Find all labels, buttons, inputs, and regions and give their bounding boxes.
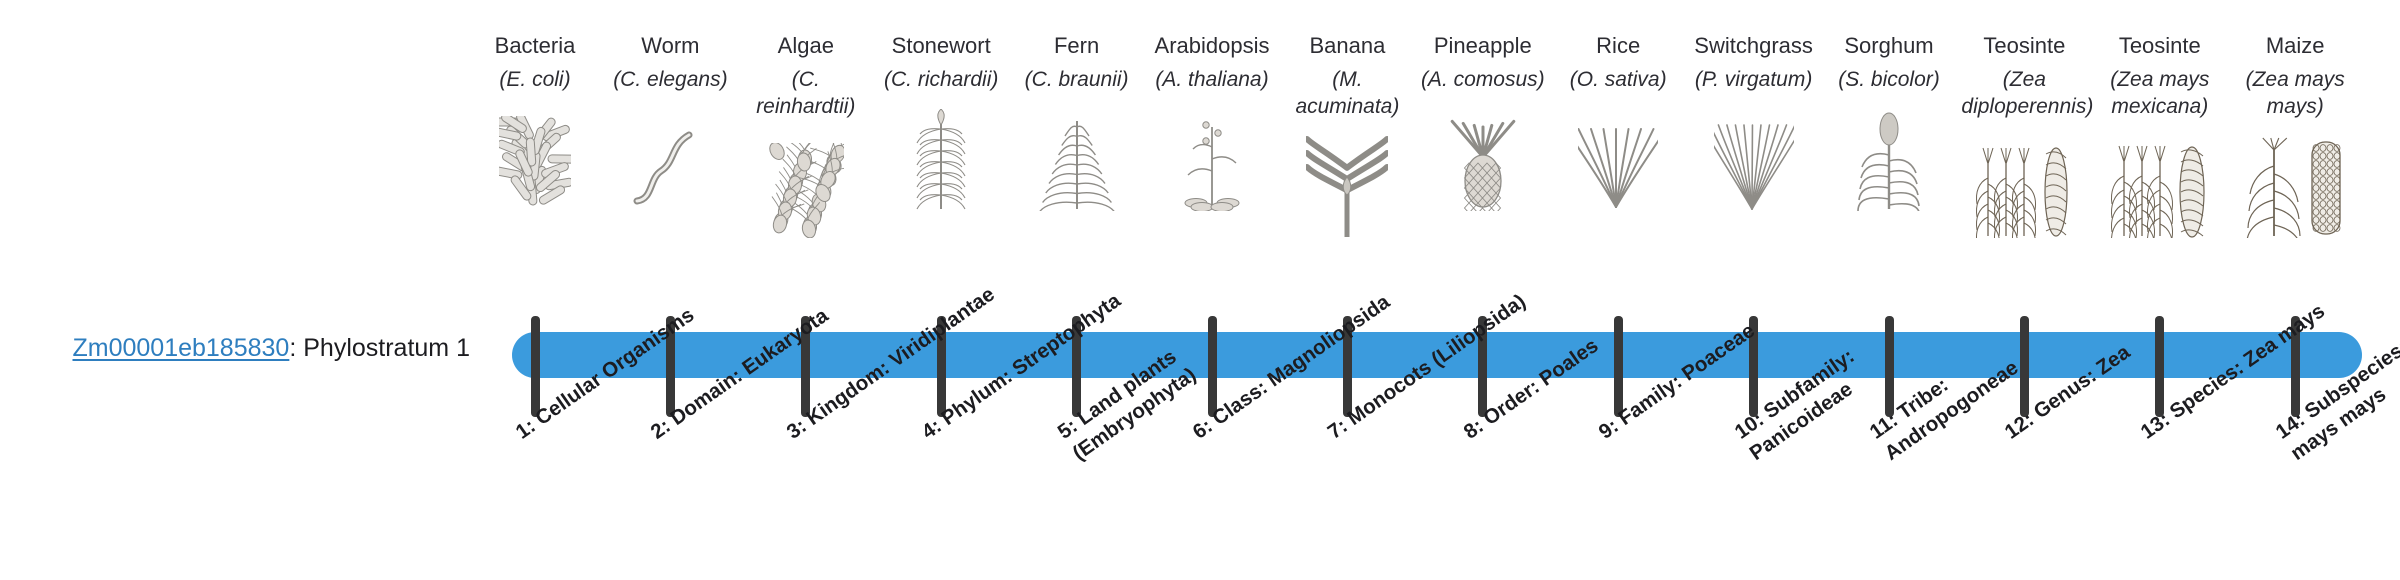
species-scientific-name: (A. thaliana) (1149, 66, 1275, 93)
fern-frond-icon (1014, 101, 1140, 211)
species-scientific-name: (C. braunii) (1014, 66, 1140, 93)
species-common-name: Pineapple (1420, 32, 1546, 60)
species-common-name: Maize (2232, 32, 2358, 60)
species-column-switchgrass-9: Switchgrass(P. virgatum) (1691, 32, 1817, 211)
species-common-name: Algae (743, 32, 869, 60)
species-column-rice-8: Rice(O. sativa) (1555, 32, 1681, 211)
switchgrass-plant-icon (1691, 101, 1817, 211)
species-column-banana-6: Banana(M. acuminata) (1284, 32, 1410, 238)
species-common-name: Arabidopsis (1149, 32, 1275, 60)
teosinte-plant-ear-icon (1961, 128, 2087, 238)
species-scientific-name: (M. acuminata) (1284, 66, 1410, 120)
species-common-name: Rice (1555, 32, 1681, 60)
species-scientific-name: (S. bicolor) (1826, 66, 1952, 93)
species-column-bacteria-0: Bacteria(E. coli) (472, 32, 598, 211)
species-common-name: Teosinte (1961, 32, 2087, 60)
species-column-pineapple-7: Pineapple(A. comosus) (1420, 32, 1546, 211)
stonewort-alga-icon (878, 101, 1004, 211)
species-scientific-name: (O. sativa) (1555, 66, 1681, 93)
species-common-name: Bacteria (472, 32, 598, 60)
sorghum-plant-icon (1826, 101, 1952, 211)
species-scientific-name: (Zea diploperennis) (1961, 66, 2087, 120)
maize-plant-cob-icon (2232, 128, 2358, 238)
species-common-name: Fern (1014, 32, 1140, 60)
species-column-maize-13: Maize(Zea mays mays) (2232, 32, 2358, 238)
phylostratum-value: Phylostratum 1 (303, 334, 470, 362)
nematode-worm-icon (607, 101, 733, 211)
gene-id-link[interactable]: Zm00001eb185830 (72, 334, 289, 362)
phylostratum-timeline-figure: Zm00001eb185830: Phylostratum 1 Bacteria… (0, 0, 2400, 580)
species-column-algae-2: Algae(C. reinhardtii) (743, 32, 869, 238)
species-column-arabidopsis-5: Arabidopsis(A. thaliana) (1149, 32, 1275, 211)
species-common-name: Sorghum (1826, 32, 1952, 60)
species-scientific-name: (E. coli) (472, 66, 598, 93)
species-common-name: Worm (607, 32, 733, 60)
teosinte-mexicana-ear-icon (2097, 128, 2223, 238)
gene-phylostratum-label: Zm00001eb185830: Phylostratum 1 (40, 332, 470, 364)
pineapple-plant-icon (1420, 101, 1546, 211)
species-column-worm-1: Worm(C. elegans) (607, 32, 733, 211)
species-common-name: Teosinte (2097, 32, 2223, 60)
timeline-tick (531, 316, 540, 417)
species-column-teosinte-11: Teosinte(Zea diploperennis) (1961, 32, 2087, 238)
species-scientific-name: (C. elegans) (607, 66, 733, 93)
bacteria-rods-icon (472, 101, 598, 211)
species-scientific-name: (C. richardii) (878, 66, 1004, 93)
green-algae-cells-icon (743, 128, 869, 238)
species-scientific-name: (P. virgatum) (1691, 66, 1817, 93)
species-column-stonewort-3: Stonewort(C. richardii) (878, 32, 1004, 211)
species-scientific-name: (Zea mays mays) (2232, 66, 2358, 120)
species-column-teosinte-12: Teosinte(Zea mays mexicana) (2097, 32, 2223, 238)
banana-tree-icon (1284, 128, 1410, 238)
species-scientific-name: (C. reinhardtii) (743, 66, 869, 120)
species-common-name: Switchgrass (1691, 32, 1817, 60)
arabidopsis-plant-icon (1149, 101, 1275, 211)
species-column-fern-4: Fern(C. braunii) (1014, 32, 1140, 211)
species-scientific-name: (A. comosus) (1420, 66, 1546, 93)
rice-plant-icon (1555, 101, 1681, 211)
species-column-sorghum-10: Sorghum(S. bicolor) (1826, 32, 1952, 211)
gene-label-separator: : (289, 334, 303, 362)
species-common-name: Banana (1284, 32, 1410, 60)
species-scientific-name: (Zea mays mexicana) (2097, 66, 2223, 120)
species-common-name: Stonewort (878, 32, 1004, 60)
